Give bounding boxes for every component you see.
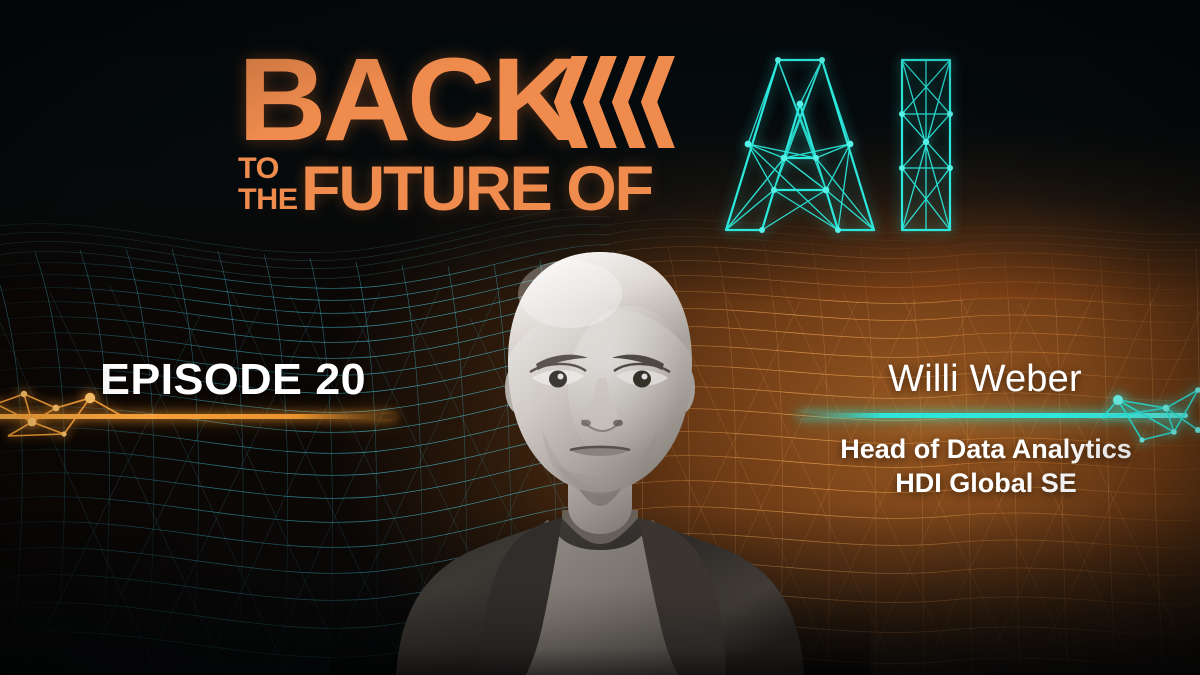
logo-the-text: THE xyxy=(238,185,298,216)
chevron-left-icon xyxy=(641,56,675,148)
podcast-episode-card: BACK TO THE FUTURE OF xyxy=(0,0,1200,675)
logo-back-text: BACK xyxy=(238,52,576,149)
episode-label: EPISODE 20 xyxy=(100,358,366,402)
logo-row-future: TO THE FUTURE OF xyxy=(238,154,675,217)
guest-company: HDI Global SE xyxy=(800,466,1172,500)
logo-to-the: TO THE xyxy=(238,154,297,217)
guest-portrait xyxy=(330,238,870,675)
logo-ai-wireframe xyxy=(718,52,962,238)
orange-node-cluster xyxy=(0,378,124,452)
logo-future-of-text: FUTURE OF xyxy=(301,162,652,217)
show-logo: BACK TO THE FUTURE OF xyxy=(238,52,675,217)
cyan-node-cluster xyxy=(1102,378,1200,452)
logo-to-text: TO xyxy=(238,154,298,185)
chevron-arrows xyxy=(559,56,675,148)
chevron-left-icon xyxy=(583,56,617,148)
chevron-left-icon xyxy=(612,56,646,148)
logo-row-back: BACK xyxy=(238,52,675,150)
